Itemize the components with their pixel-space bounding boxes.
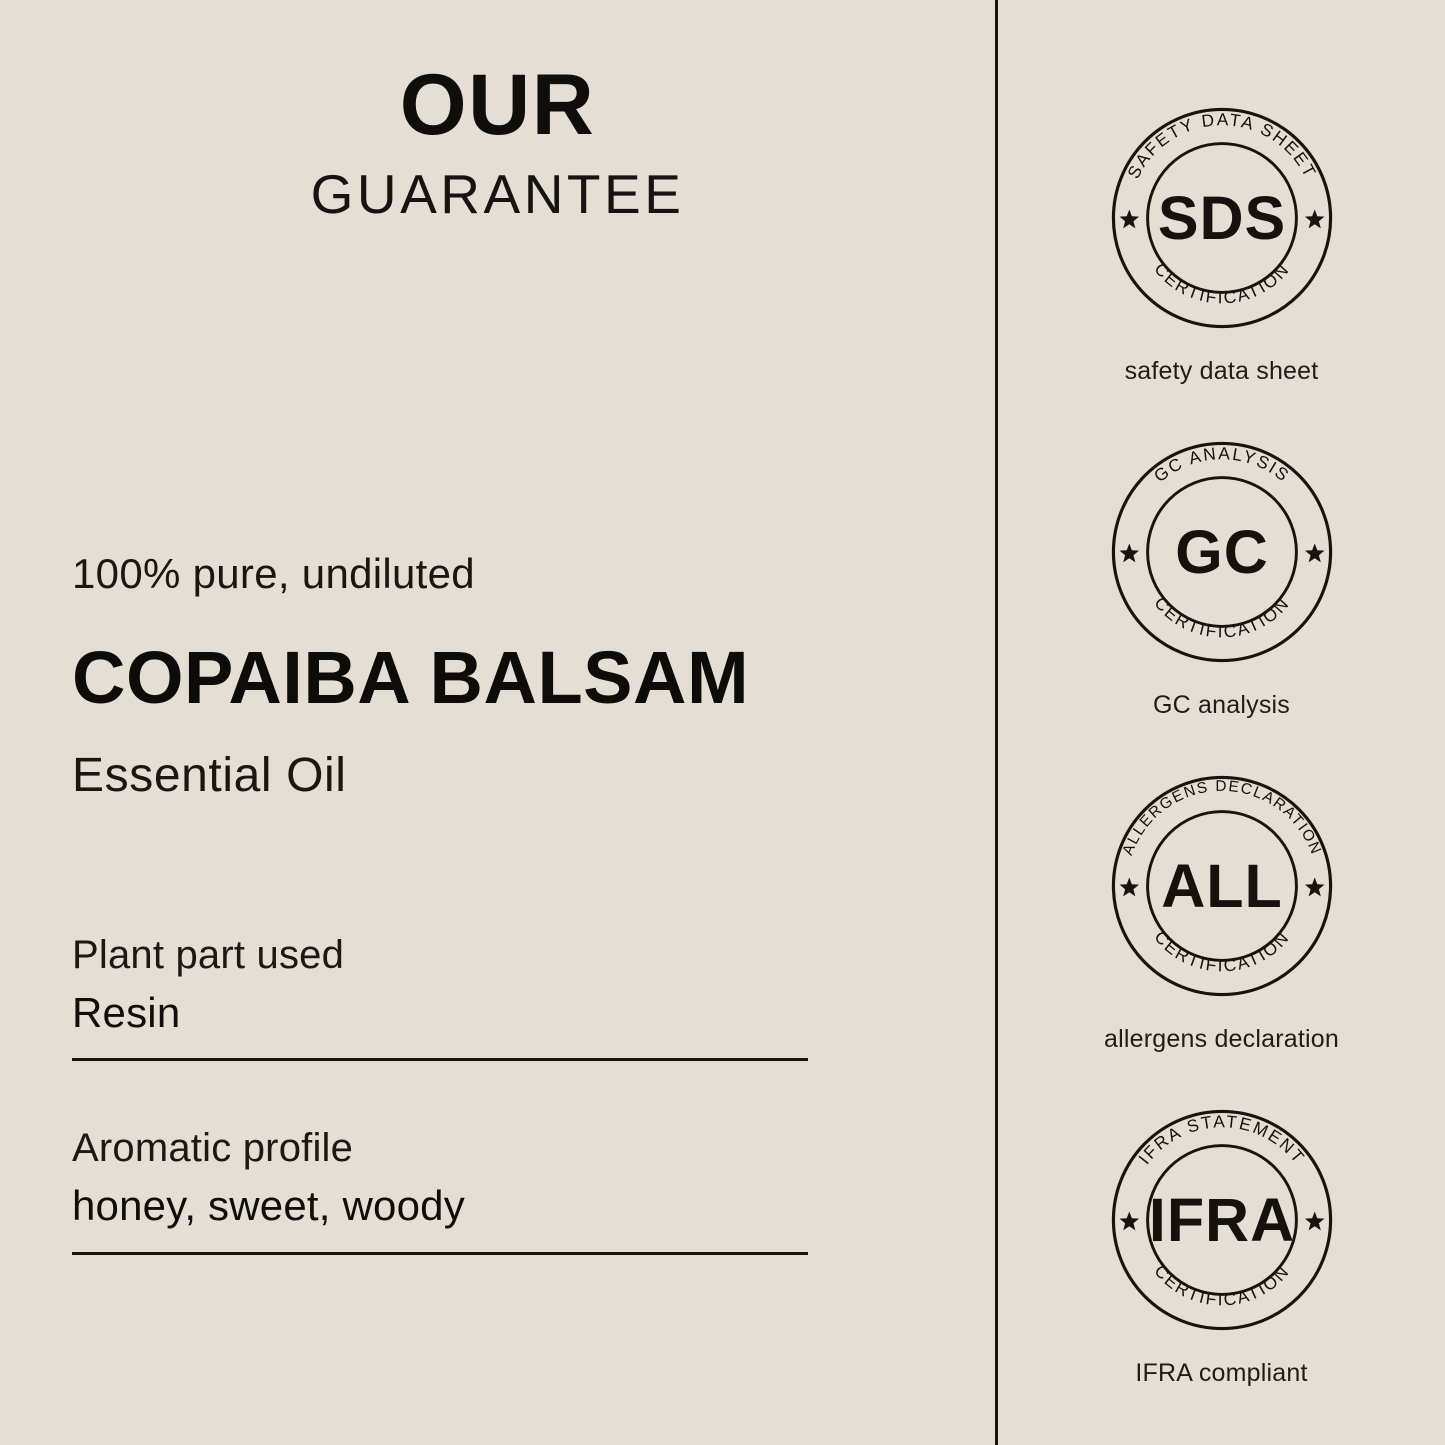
spec-field-plant-part: Plant part used Resin bbox=[72, 930, 808, 1061]
badge-abbreviation: GC bbox=[1175, 518, 1268, 586]
spec-label: Aromatic profile bbox=[72, 1123, 808, 1173]
badge-top-arc-text: IFRA STATEMENT bbox=[1134, 1111, 1309, 1168]
star-icon-left bbox=[1119, 543, 1139, 562]
spec-divider bbox=[72, 1058, 808, 1061]
star-icon-right bbox=[1304, 543, 1324, 562]
certification-badge-allergens: ALLERGENS DECLARATION CERTIFICATION ALL … bbox=[998, 764, 1445, 1054]
star-icon-right bbox=[1304, 877, 1324, 896]
heading-sub: GUARANTEE bbox=[0, 160, 995, 229]
svg-text:CERTIFICATION: CERTIFICATION bbox=[1150, 259, 1293, 308]
certification-badge-sds: SAFETY DATA SHEET CERTIFICATION SDS safe… bbox=[998, 96, 1445, 386]
badge-top-arc-text: GC ANALYSIS bbox=[1149, 443, 1293, 486]
badge-bottom-arc-text: CERTIFICATION bbox=[1150, 259, 1293, 308]
certification-seal-icon: GC ANALYSIS CERTIFICATION GC bbox=[1100, 430, 1344, 674]
svg-text:ALLERGENS DECLARATION: ALLERGENS DECLARATION bbox=[1119, 778, 1324, 858]
product-identity: 100% pure, undiluted COPAIBA BALSAM Esse… bbox=[72, 548, 952, 805]
star-icon-left bbox=[1119, 877, 1139, 896]
svg-text:IFRA STATEMENT: IFRA STATEMENT bbox=[1134, 1111, 1309, 1168]
badge-caption: IFRA compliant bbox=[1135, 1358, 1307, 1388]
spec-list: Plant part used Resin Aromatic profile h… bbox=[72, 930, 808, 1255]
badge-bottom-arc-text: CERTIFICATION bbox=[1150, 1261, 1293, 1310]
svg-text:CERTIFICATION: CERTIFICATION bbox=[1150, 927, 1293, 976]
badge-bottom-arc-text: CERTIFICATION bbox=[1150, 593, 1293, 642]
left-column: OUR GUARANTEE 100% pure, undiluted COPAI… bbox=[0, 0, 995, 1445]
certification-seal-icon: SAFETY DATA SHEET CERTIFICATION SDS bbox=[1100, 96, 1344, 340]
page-title: OUR GUARANTEE bbox=[0, 62, 995, 228]
spec-label: Plant part used bbox=[72, 930, 808, 980]
badge-top-arc-text: ALLERGENS DECLARATION bbox=[1119, 778, 1324, 858]
badge-abbreviation: IFRA bbox=[1148, 1186, 1294, 1254]
badge-abbreviation: SDS bbox=[1157, 184, 1285, 252]
badge-bottom-arc-text: CERTIFICATION bbox=[1150, 927, 1293, 976]
badge-caption: allergens declaration bbox=[1104, 1024, 1339, 1054]
spec-field-aromatic-profile: Aromatic profile honey, sweet, woody bbox=[72, 1123, 808, 1254]
product-type: Essential Oil bbox=[72, 747, 952, 805]
certification-badge-ifra: IFRA STATEMENT CERTIFICATION IFRA IFRA c… bbox=[998, 1098, 1445, 1388]
spec-divider bbox=[72, 1252, 808, 1255]
certification-badge-gc: GC ANALYSIS CERTIFICATION GC GC analysis bbox=[998, 430, 1445, 720]
badge-caption: GC analysis bbox=[1153, 690, 1290, 720]
spec-value: Resin bbox=[72, 988, 808, 1038]
heading-main: OUR bbox=[0, 62, 995, 150]
certification-seal-icon: ALLERGENS DECLARATION CERTIFICATION ALL bbox=[1100, 764, 1344, 1008]
spec-value: honey, sweet, woody bbox=[72, 1181, 808, 1231]
certification-badge-list: SAFETY DATA SHEET CERTIFICATION SDS safe… bbox=[998, 0, 1445, 1445]
svg-text:SAFETY DATA SHEET: SAFETY DATA SHEET bbox=[1123, 109, 1321, 181]
certification-seal-icon: IFRA STATEMENT CERTIFICATION IFRA bbox=[1100, 1098, 1344, 1342]
star-icon-right bbox=[1304, 209, 1324, 228]
badge-abbreviation: ALL bbox=[1161, 852, 1283, 920]
product-tagline: 100% pure, undiluted bbox=[72, 548, 952, 601]
guarantee-panel: OUR GUARANTEE 100% pure, undiluted COPAI… bbox=[0, 0, 1445, 1445]
product-name: COPAIBA BALSAM bbox=[72, 637, 952, 720]
svg-text:CERTIFICATION: CERTIFICATION bbox=[1150, 593, 1293, 642]
badge-caption: safety data sheet bbox=[1125, 356, 1319, 386]
badge-top-arc-text: SAFETY DATA SHEET bbox=[1123, 109, 1321, 181]
svg-text:GC ANALYSIS: GC ANALYSIS bbox=[1149, 443, 1293, 486]
svg-text:CERTIFICATION: CERTIFICATION bbox=[1150, 1261, 1293, 1310]
star-icon-left bbox=[1119, 209, 1139, 228]
star-icon-left bbox=[1119, 1211, 1139, 1230]
star-icon-right bbox=[1304, 1211, 1324, 1230]
